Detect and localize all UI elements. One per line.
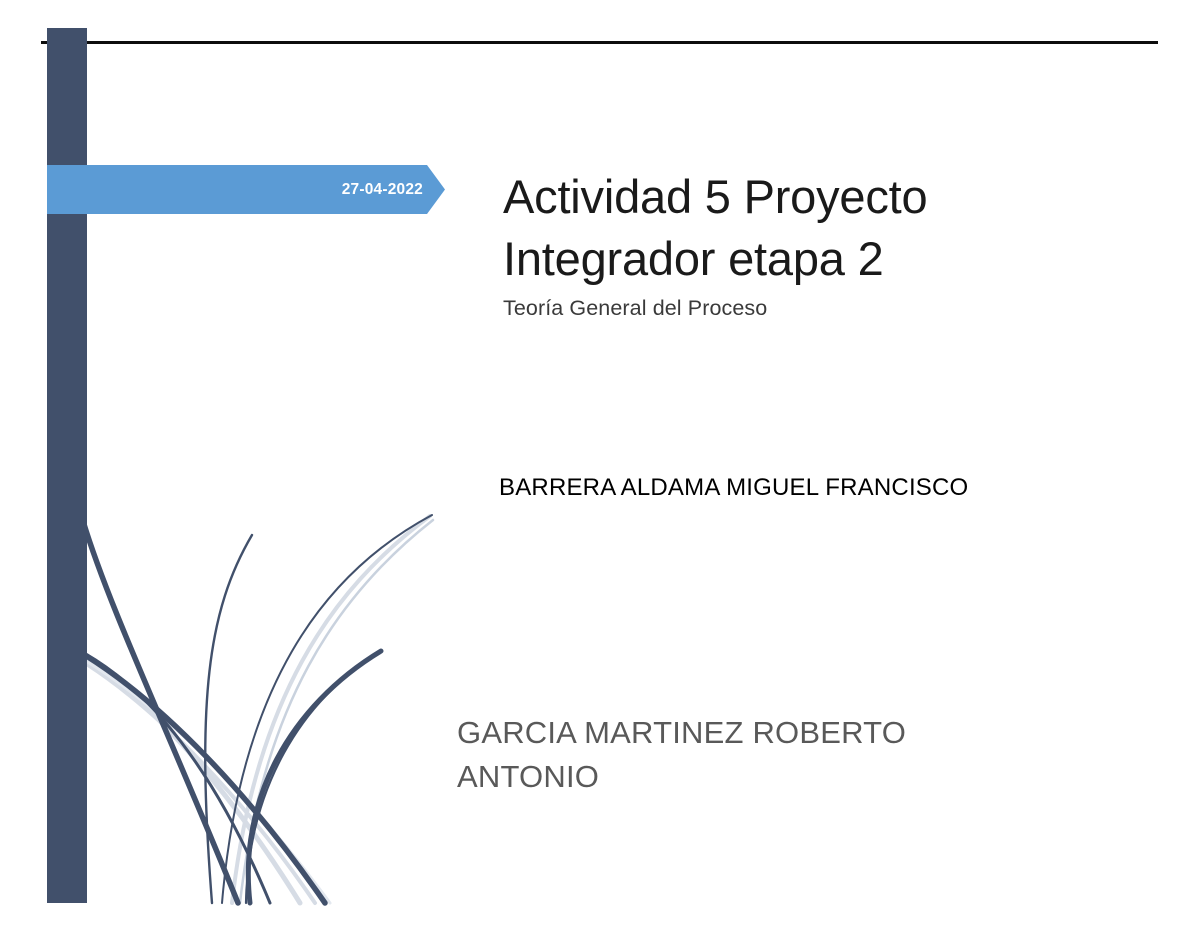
- left-accent-bar: [47, 28, 87, 903]
- date-banner: 27-04-2022: [47, 165, 445, 214]
- author-secondary: GARCIA MARTINEZ ROBERTO ANTONIO: [457, 711, 957, 799]
- author-primary: BARRERA ALDAMA MIGUEL FRANCISCO: [499, 474, 968, 502]
- slide-title: Actividad 5 Proyecto Integrador etapa 2: [503, 166, 1063, 290]
- date-text: 27-04-2022: [342, 181, 423, 199]
- title-block: Actividad 5 Proyecto Integrador etapa 2 …: [503, 166, 1063, 321]
- top-horizontal-rule: [41, 41, 1158, 44]
- title-slide: 27-04-2022 Actividad 5 Proyecto Integrad…: [0, 0, 1200, 927]
- slide-subtitle: Teoría General del Proceso: [503, 296, 1063, 321]
